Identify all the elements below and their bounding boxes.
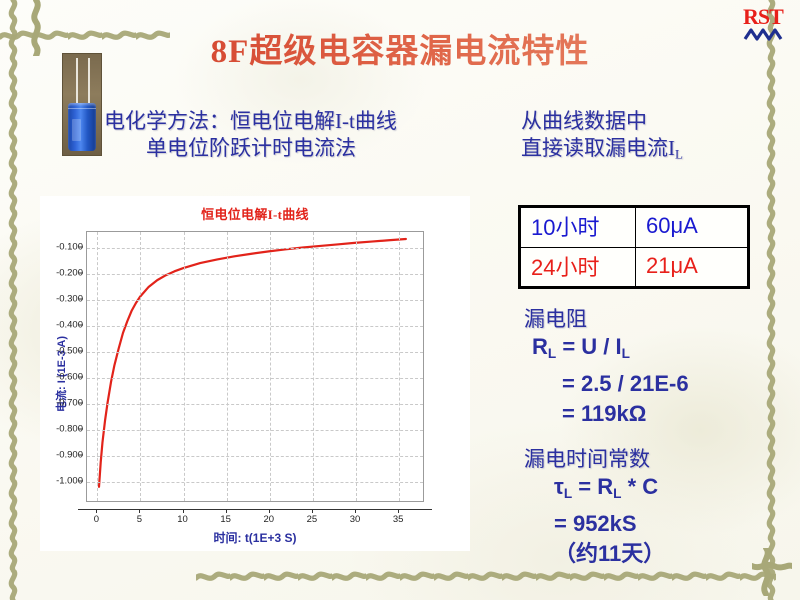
chart-gridline-h	[87, 326, 423, 327]
chart-plot-area	[86, 231, 424, 502]
slide-canvas: RST 8F超级电容器漏电流特性 电化学方法：恒电位电解I-t曲线 单电位阶跃计…	[0, 0, 800, 600]
read-line-1: 从曲线数据中	[521, 109, 647, 133]
eq1-sub-l2: L	[622, 346, 630, 361]
decorative-border-bottom	[196, 565, 776, 587]
chart-gridline-h	[87, 352, 423, 353]
chart-y-tick-mark	[79, 429, 83, 430]
eq-tau-sub-l: L	[564, 486, 572, 501]
eq1-sub-l1: L	[548, 346, 556, 361]
chart-gridline-h	[87, 300, 423, 301]
chart-x-tick-label: 25	[307, 514, 318, 525]
it-curve-chart: 恒电位电解I-t曲线 电流: I (1E-3 A) 时间: t(1E+3 S) …	[40, 196, 470, 551]
table-row: 24小时 21μA	[520, 247, 749, 288]
chart-y-tick-mark	[79, 350, 83, 351]
time-constant-eq-1: τL = RL * C	[524, 472, 665, 509]
chart-y-tick-mark	[79, 402, 83, 403]
eq1-mid: = U / I	[556, 334, 621, 359]
chart-x-axis-label: 时间: t(1E+3 S)	[86, 529, 424, 546]
leakage-current-table: 10小时 60μA 24小时 21μA	[518, 205, 750, 289]
chart-y-tick-mark	[79, 324, 83, 325]
leakage-resistance-eq-3: = 119kΩ	[524, 399, 689, 429]
leakage-time-constant-block: 漏电时间常数 τL = RL * C = 952kS （约11天）	[524, 446, 665, 569]
chart-gridline-v	[140, 232, 141, 501]
chart-gridline-h	[87, 378, 423, 379]
time-constant-eq-2: = 952kS	[524, 509, 665, 539]
chart-gridline-h	[87, 248, 423, 249]
method-line-2: 单电位阶跃计时电流法	[104, 135, 397, 162]
eq-tau-post: * C	[621, 474, 658, 499]
capacitor-lead-2	[88, 58, 90, 106]
chart-x-tick-label: 35	[393, 514, 404, 525]
leakage-resistance-eq-2: = 2.5 / 21E-6	[524, 369, 689, 399]
chart-x-tick-mark	[226, 509, 227, 513]
chart-x-tick-mark	[183, 509, 184, 513]
table-row: 10小时 60μA	[520, 207, 749, 248]
read-current-text: 从曲线数据中 直接读取漏电流IL	[521, 108, 683, 168]
chart-y-ticks: -1.000-0.900-0.800-0.700-0.600-0.500-0.4…	[40, 231, 83, 502]
chart-curve	[87, 232, 423, 501]
read-line-2: 直接读取漏电流IL	[521, 136, 683, 160]
table-cell-time: 24小时	[520, 247, 636, 288]
decorative-border-right	[760, 0, 782, 600]
chart-y-tick-mark	[79, 246, 83, 247]
chart-y-tick-mark	[79, 481, 83, 482]
chart-x-tick-mark	[139, 509, 140, 513]
read-line-2-main: 直接读取漏电流I	[521, 136, 675, 160]
chart-y-tick-mark	[79, 455, 83, 456]
eq1-r: R	[532, 334, 548, 359]
capacitor-lead-1	[76, 58, 78, 106]
read-line-2-subscript: L	[675, 147, 683, 162]
eq-tau-mid: = R	[572, 474, 613, 499]
chart-gridline-v	[184, 232, 185, 501]
chart-x-tick-label: 0	[94, 514, 99, 525]
chart-x-ticks: 05101520253035	[86, 509, 424, 531]
chart-x-tick-label: 15	[220, 514, 231, 525]
table-cell-current: 60μA	[636, 207, 749, 248]
chart-x-tick-label: 5	[137, 514, 142, 525]
chart-x-tick-label: 10	[177, 514, 188, 525]
method-line-1: 电化学方法：恒电位电解I-t曲线	[104, 109, 397, 133]
eq-tau: τ	[554, 474, 564, 499]
leakage-resistance-block: 漏电阻 RL = U / IL = 2.5 / 21E-6 = 119kΩ	[524, 306, 689, 429]
time-constant-eq-3: （约11天）	[524, 539, 665, 569]
chart-y-tick-mark	[79, 298, 83, 299]
chart-x-tick-mark	[398, 509, 399, 513]
chart-x-tick-mark	[312, 509, 313, 513]
chart-gridline-v	[356, 232, 357, 501]
chart-gridline-v	[270, 232, 271, 501]
table-cell-current: 21μA	[636, 247, 749, 288]
capacitor-photo	[62, 53, 102, 156]
chart-x-tick-mark	[355, 509, 356, 513]
chart-x-tick-label: 20	[263, 514, 274, 525]
chart-gridline-v	[97, 232, 98, 501]
chart-gridline-v	[227, 232, 228, 501]
decorative-border-left	[2, 0, 24, 600]
chart-y-tick-mark	[79, 272, 83, 273]
chart-gridline-v	[313, 232, 314, 501]
chart-gridline-h	[87, 456, 423, 457]
chart-title: 恒电位电解I-t曲线	[40, 204, 470, 223]
page-title: 8F超级电容器漏电流特性	[0, 24, 800, 72]
chart-x-tick-mark	[96, 509, 97, 513]
chart-gridline-h	[87, 274, 423, 275]
chart-y-tick-mark	[79, 376, 83, 377]
method-text: 电化学方法：恒电位电解I-t曲线 单电位阶跃计时电流法	[104, 108, 397, 162]
chart-gridline-h	[87, 404, 423, 405]
chart-gridline-h	[87, 430, 423, 431]
chart-x-tick-label: 30	[350, 514, 361, 525]
table-cell-time: 10小时	[520, 207, 636, 248]
time-constant-heading: 漏电时间常数	[524, 446, 665, 472]
capacitor-body	[68, 103, 96, 151]
leakage-resistance-heading: 漏电阻	[524, 306, 689, 332]
chart-series-line	[99, 239, 406, 487]
capacitor-label-stripe	[72, 119, 81, 141]
chart-x-tick-mark	[269, 509, 270, 513]
chart-gridline-h	[87, 482, 423, 483]
chart-gridline-v	[399, 232, 400, 501]
leakage-resistance-eq-1: RL = U / IL	[524, 332, 689, 369]
